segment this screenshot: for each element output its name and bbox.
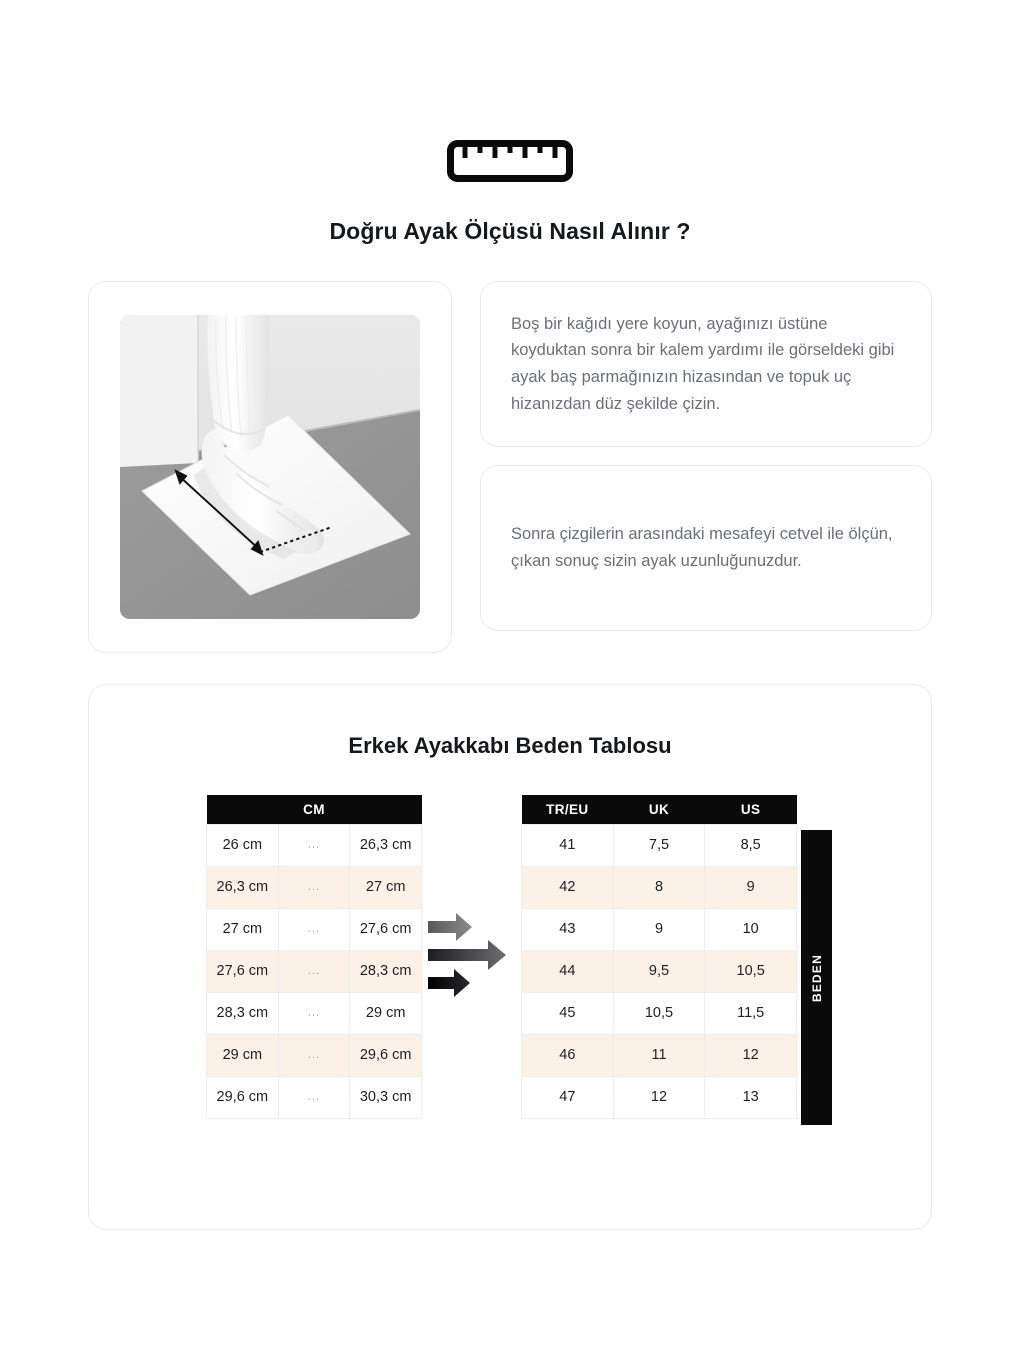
cm-to: 28,3 cm [350,950,422,992]
cm-header-cell: CM [207,795,422,824]
table-row: 26,3 cm ... 27 cm [207,866,422,908]
page-title: Doğru Ayak Ölçüsü Nasıl Alınır ? [0,218,1020,245]
size-us: 13 [705,1076,797,1118]
cm-to: 29 cm [350,992,422,1034]
size-treu: 42 [522,866,614,908]
cm-table-body: 26 cm ... 26,3 cm 26,3 cm ... 27 cm 27 c… [207,824,422,1118]
beden-label: BEDEN [810,953,824,1001]
size-treu: 45 [522,992,614,1034]
cm-separator: ... [278,866,350,908]
size-table-card: Erkek Ayakkabı Beden Tablosu CM 26 cm ..… [88,684,932,1230]
instruction-text-1: Boş bir kağıdı yere koyun, ayağınızı üst… [511,311,901,418]
size-uk: 8 [613,866,705,908]
size-us: 10 [705,908,797,950]
size-uk: 11 [613,1034,705,1076]
table-row: 29,6 cm ... 30,3 cm [207,1076,422,1118]
size-us: 10,5 [705,950,797,992]
table-row: 44 9,5 10,5 [522,950,797,992]
table-row: 27,6 cm ... 28,3 cm [207,950,422,992]
cm-to: 27,6 cm [350,908,422,950]
size-uk: 7,5 [613,824,705,866]
shoe-size-table: TR/EU UK US 41 7,5 8,5 42 8 9 43 [521,795,797,1119]
size-header-us: US [705,795,797,824]
size-table-body: 41 7,5 8,5 42 8 9 43 9 10 44 9,5 10, [522,824,797,1118]
cm-from: 26 cm [207,824,279,866]
instruction-card-1: Boş bir kağıdı yere koyun, ayağınızı üst… [480,281,932,447]
size-uk: 10,5 [613,992,705,1034]
size-us: 8,5 [705,824,797,866]
cm-from: 26,3 cm [207,866,279,908]
instruction-card-2: Sonra çizgilerin arasındaki mesafeyi cet… [480,465,932,631]
size-uk: 9,5 [613,950,705,992]
cm-separator: ... [278,992,350,1034]
table-row: 26 cm ... 26,3 cm [207,824,422,866]
ruler-icon-container [0,140,1020,182]
right-arrows-icon [426,905,518,1005]
cm-to: 30,3 cm [350,1076,422,1118]
table-row: 29 cm ... 29,6 cm [207,1034,422,1076]
cm-separator: ... [278,908,350,950]
table-row: 28,3 cm ... 29 cm [207,992,422,1034]
cm-measurement-table: CM 26 cm ... 26,3 cm 26,3 cm ... 27 cm 2… [206,795,422,1119]
size-uk: 9 [613,908,705,950]
cm-separator: ... [278,1034,350,1076]
table-row: 45 10,5 11,5 [522,992,797,1034]
table-row: 43 9 10 [522,908,797,950]
foot-measurement-photo [120,315,420,619]
table-row: 27 cm ... 27,6 cm [207,908,422,950]
size-uk: 12 [613,1076,705,1118]
size-us: 12 [705,1034,797,1076]
ruler-icon [447,140,573,182]
table-row: 46 11 12 [522,1034,797,1076]
size-us: 9 [705,866,797,908]
size-treu: 47 [522,1076,614,1118]
cm-to: 27 cm [350,866,422,908]
cm-to: 29,6 cm [350,1034,422,1076]
size-header-treu: TR/EU [522,795,614,824]
tables-area: CM 26 cm ... 26,3 cm 26,3 cm ... 27 cm 2… [89,795,931,1135]
size-treu: 41 [522,824,614,866]
cm-separator: ... [278,950,350,992]
table-row: 42 8 9 [522,866,797,908]
cm-from: 27,6 cm [207,950,279,992]
table-row: 47 12 13 [522,1076,797,1118]
cm-separator: ... [278,1076,350,1118]
instruction-text-2: Sonra çizgilerin arasındaki mesafeyi cet… [511,521,901,574]
size-header-row: TR/EU UK US [522,795,797,824]
size-treu: 46 [522,1034,614,1076]
cm-from: 28,3 cm [207,992,279,1034]
table-row: 41 7,5 8,5 [522,824,797,866]
size-table-title: Erkek Ayakkabı Beden Tablosu [89,733,931,759]
foot-measurement-illustration [120,315,420,619]
size-table-head: TR/EU UK US [522,795,797,824]
size-treu: 43 [522,908,614,950]
cm-separator: ... [278,824,350,866]
cm-from: 27 cm [207,908,279,950]
beden-sidebar: BEDEN [801,830,832,1125]
size-us: 11,5 [705,992,797,1034]
cm-header-row: CM [207,795,422,824]
size-treu: 44 [522,950,614,992]
size-header-uk: UK [613,795,705,824]
cm-to: 26,3 cm [350,824,422,866]
cm-from: 29 cm [207,1034,279,1076]
arrows-group [426,905,518,1005]
cm-from: 29,6 cm [207,1076,279,1118]
foot-photo-card [88,281,452,653]
cm-table-head: CM [207,795,422,824]
